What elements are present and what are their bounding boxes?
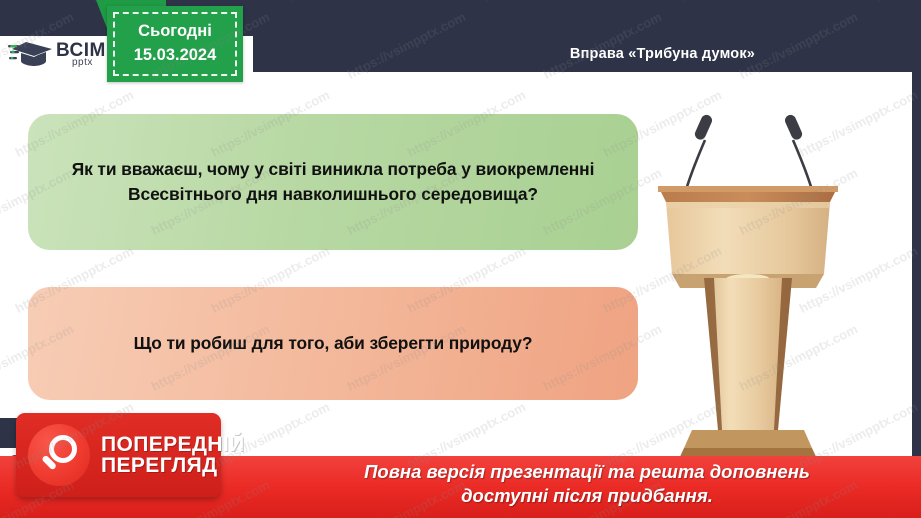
question-card-green: Як ти вважаєш, чому у світі виникла потр… — [28, 114, 638, 250]
bottom-banner-line-1: Повна версія презентації та решта доповн… — [253, 460, 921, 484]
preview-line-2: ПЕРЕГЛЯД — [101, 455, 245, 476]
date-badge-value: 15.03.2024 — [134, 44, 217, 68]
preview-line-1: ПОПЕРЕДНІЙ — [101, 434, 245, 455]
page-title: Вправа «Трибуна думок» — [570, 46, 755, 62]
bottom-banner-text: Повна версія презентації та решта доповн… — [253, 460, 921, 509]
question-text-1: Як ти вважаєш, чому у світі виникла потр… — [54, 157, 612, 206]
date-badge-label: Сьогодні — [138, 20, 212, 44]
today-date-badge: Сьогодні 15.03.2024 — [107, 6, 243, 82]
bottom-banner-line-2: доступні після придбання. — [253, 484, 921, 508]
podium-illustration — [648, 78, 916, 464]
microphone-left-icon — [686, 113, 714, 190]
graduation-cap-icon — [8, 40, 54, 68]
question-text-2: Що ти робиш для того, аби зберегти приро… — [134, 331, 533, 356]
brand-logo-text: ВСІМ pptx — [56, 41, 106, 68]
presentation-slide: Вправа «Трибуна думок» — [0, 0, 921, 518]
preview-badge-text: ПОПЕРЕДНІЙ ПЕРЕГЛЯД — [101, 434, 245, 477]
preview-badge[interactable]: ПОПЕРЕДНІЙ ПЕРЕГЛЯД — [16, 413, 221, 497]
microphone-right-icon — [783, 113, 812, 190]
magnifier-icon — [28, 424, 90, 486]
slide-header-bar: Вправа «Трибуна думок» — [253, 36, 912, 72]
question-card-orange: Що ти робиш для того, аби зберегти приро… — [28, 287, 638, 400]
